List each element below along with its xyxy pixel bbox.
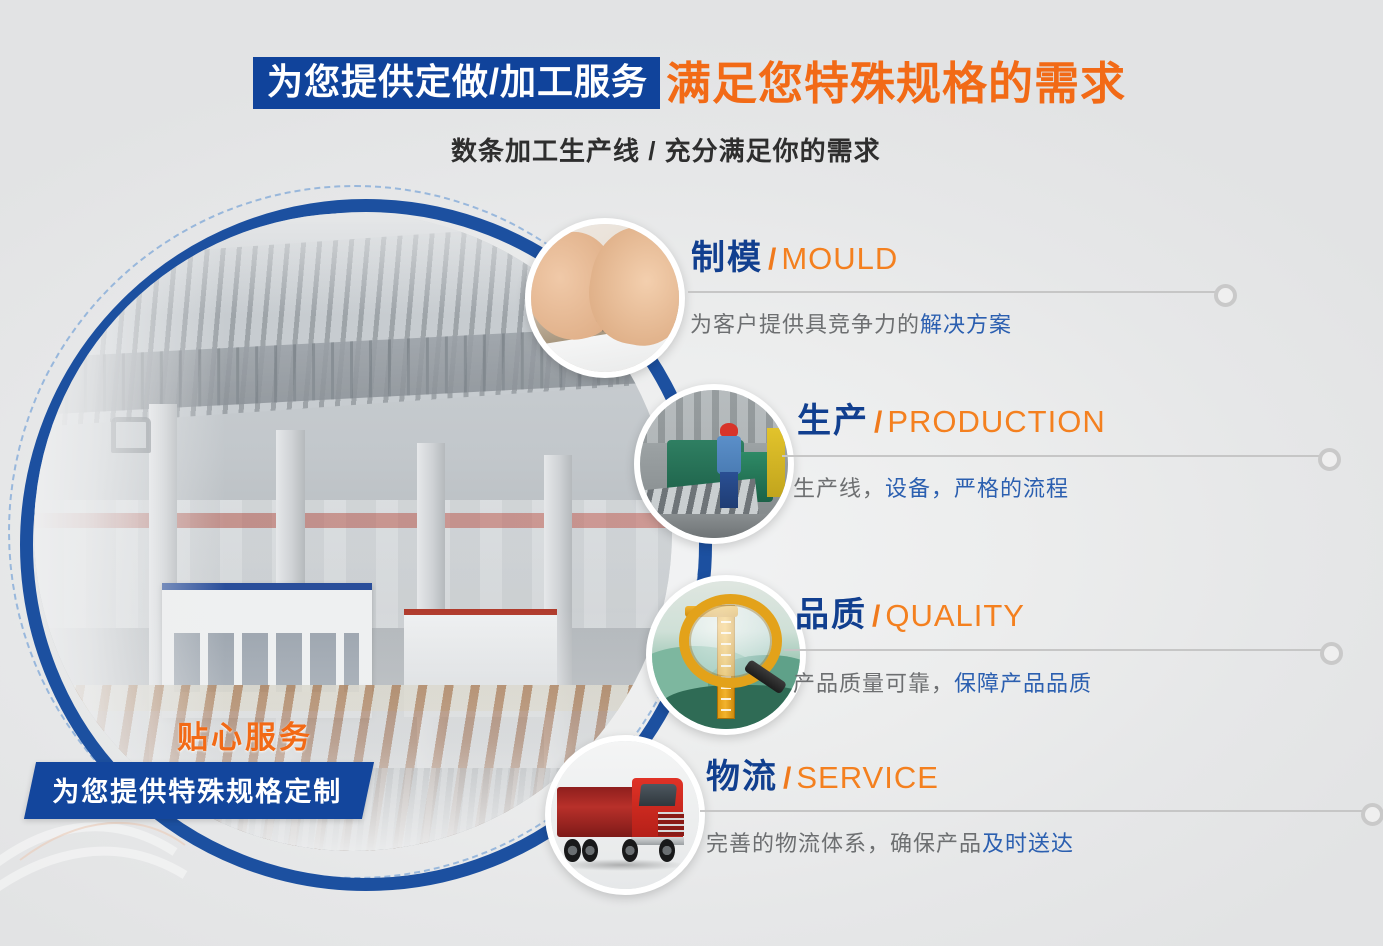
workshop-floor — [640, 514, 788, 538]
feature-title-en: QUALITY — [885, 598, 1025, 633]
feature-title-service: 物流/SERVICE — [706, 760, 939, 794]
truck-bumper — [631, 837, 684, 844]
magnifier-ruler-photo — [652, 581, 800, 729]
feature-title-cn: 品质 — [795, 596, 867, 634]
feature-desc-highlight: 设备，严格的流程 — [885, 476, 1069, 501]
feature-title-separator: / — [783, 762, 791, 795]
feature-title-production: 生产/PRODUCTION — [797, 404, 1106, 438]
feature-title-cn: 制模 — [691, 239, 763, 277]
connector-dot-quality — [1320, 642, 1343, 665]
feature-desc-plain: 完善的物流体系，确保产品 — [706, 831, 982, 856]
feature-title-separator: / — [874, 406, 882, 439]
service-badge-label: 为您提供特殊规格定制 — [52, 770, 342, 809]
headline-orange: 满足您特殊规格的需求 — [666, 61, 1126, 106]
page-subtitle: 数条加工生产线 / 充分满足你的需求 — [451, 131, 881, 168]
workshop-ceiling — [640, 390, 788, 443]
feature-title-cn: 生产 — [797, 402, 869, 440]
feature-title-mould: 制模/MOULD — [691, 241, 898, 275]
feature-icon-mould[interactable] — [525, 218, 685, 378]
connector-line-mould — [688, 291, 1218, 293]
feature-icon-service[interactable] — [545, 735, 705, 895]
truck-windshield — [639, 784, 677, 806]
feature-desc-service: 完善的物流体系，确保产品及时送达 — [706, 826, 1074, 858]
feature-title-en: PRODUCTION — [887, 404, 1105, 439]
feature-desc-highlight: 保障产品品质 — [954, 671, 1092, 696]
worker-legs — [720, 472, 737, 508]
headline-row: 为您提供定做/加工服务 满足您特殊规格的需求 — [253, 57, 1126, 109]
feature-desc-plain: 生产线， — [793, 476, 885, 501]
service-badge: 为您提供特殊规格定制 — [24, 762, 374, 819]
truck-container — [557, 787, 637, 837]
red-truck-photo — [551, 741, 699, 889]
feature-desc-highlight: 及时送达 — [982, 831, 1074, 856]
service-heading: 贴心服务 — [177, 712, 313, 757]
feature-desc-highlight: 解决方案 — [920, 312, 1012, 337]
connector-line-production — [782, 455, 1322, 457]
feature-desc-mould: 为客户提供具竞争力的解决方案 — [690, 307, 1012, 339]
feature-title-en: SERVICE — [796, 760, 939, 795]
headline-badge: 为您提供定做/加工服务 — [253, 57, 660, 109]
feature-title-separator: / — [872, 600, 880, 633]
truck-wheel — [564, 839, 580, 863]
factory-worker-photo — [640, 390, 788, 538]
connector-dot-service — [1361, 803, 1383, 826]
feature-icon-production[interactable] — [634, 384, 794, 544]
feature-title-cn: 物流 — [706, 758, 778, 796]
feature-desc-plain: 产品质量可靠， — [793, 671, 954, 696]
feature-title-en: MOULD — [781, 241, 898, 276]
hands-drawing-scriber-photo — [531, 224, 679, 372]
truck-grille — [658, 812, 685, 836]
red-helmet — [720, 423, 738, 438]
worker-figure — [717, 423, 742, 509]
connector-line-quality — [784, 649, 1324, 651]
yellow-panel — [767, 428, 785, 496]
connector-dot-mould — [1214, 284, 1237, 307]
feature-icon-quality[interactable] — [646, 575, 806, 735]
feature-title-separator: / — [768, 243, 776, 276]
worker-torso — [717, 436, 741, 474]
feature-desc-plain: 为客户提供具竞争力的 — [690, 312, 920, 337]
feature-desc-quality: 产品质量可靠，保障产品品质 — [793, 666, 1092, 698]
feature-desc-production: 生产线，设备，严格的流程 — [793, 471, 1069, 503]
feature-title-quality: 品质/QUALITY — [795, 598, 1025, 632]
connector-dot-production — [1318, 448, 1341, 471]
connector-line-service — [700, 810, 1365, 812]
